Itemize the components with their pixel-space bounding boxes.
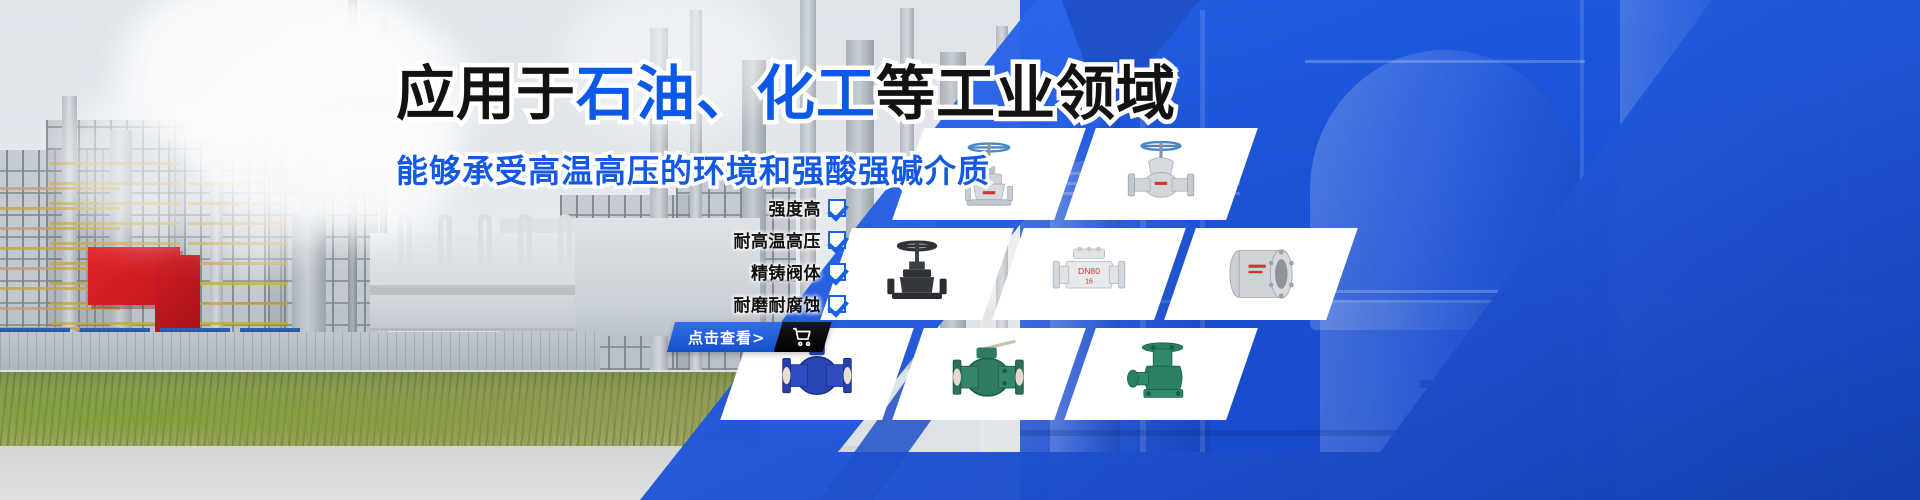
feature-item: 耐磨耐腐蚀 xyxy=(734,291,847,316)
page-title: 应用于石油、化工等工业领域 xyxy=(396,64,1176,123)
feature-item: 强度高 xyxy=(769,195,847,220)
product-cell[interactable] xyxy=(892,328,1086,420)
plant-pipe xyxy=(1840,0,1844,500)
headline-highlight: 石油、化工 xyxy=(576,59,876,128)
checkbox-checked-icon xyxy=(828,199,846,217)
product-cell[interactable]: DN80 16 xyxy=(992,228,1186,320)
product-cell[interactable] xyxy=(1164,228,1358,320)
page-subtitle: 能够承受高温高压的环境和强酸强碱介质 xyxy=(396,146,990,192)
foreground-haze xyxy=(0,446,900,500)
grass-field xyxy=(0,372,760,448)
shopping-cart-icon xyxy=(792,326,814,348)
cta-button[interactable]: 点击查看> xyxy=(667,322,832,352)
plug-valve-icon xyxy=(946,335,1032,413)
plant-railing xyxy=(1305,60,1585,63)
checkbox-checked-icon xyxy=(828,263,846,281)
headline-part-1: 应用于 xyxy=(396,59,576,128)
checkbox-checked-icon xyxy=(828,295,846,313)
feature-label: 耐高温高压 xyxy=(734,227,822,252)
green-globe-valve-icon xyxy=(1118,335,1204,413)
headline-part-3: 等工业领域 xyxy=(876,59,1176,128)
pipe-arc xyxy=(558,214,572,268)
product-cell[interactable] xyxy=(1064,328,1258,420)
svg-text:16: 16 xyxy=(1085,278,1093,285)
wafer-valve-icon xyxy=(1218,235,1304,313)
svg-text:DN80: DN80 xyxy=(1078,266,1100,276)
cta-label[interactable]: 点击查看> xyxy=(667,322,783,352)
plant-tank xyxy=(1610,120,1810,360)
feature-label: 强度高 xyxy=(769,195,822,220)
feature-label: 耐磨耐腐蚀 xyxy=(734,291,822,316)
feature-checklist: 强度高 耐高温高压 精铸阀体 耐磨耐腐蚀 xyxy=(686,195,846,316)
product-cell[interactable] xyxy=(1064,128,1258,220)
feature-label: 精铸阀体 xyxy=(751,259,821,284)
perimeter-wall xyxy=(0,332,600,370)
pipe-arc xyxy=(518,214,532,268)
plant-pipe xyxy=(1580,0,1584,500)
pipe-arc xyxy=(438,214,452,268)
globe-valve-icon xyxy=(1118,135,1204,213)
promo-banner: DN80 16 xyxy=(0,0,1920,500)
steam-plume xyxy=(205,180,315,270)
checkbox-checked-icon xyxy=(828,231,846,249)
feature-item: 精铸阀体 xyxy=(751,259,846,284)
check-valve-icon: DN80 16 xyxy=(1046,235,1132,313)
plant-beam xyxy=(1420,380,1920,388)
gate-valve-icon xyxy=(874,235,960,313)
red-equipment-housing xyxy=(155,255,200,333)
cta-cart-button[interactable] xyxy=(774,322,832,352)
product-cell[interactable] xyxy=(820,228,1014,320)
pipe-arc xyxy=(478,214,492,268)
plant-beam xyxy=(1020,430,1920,436)
feature-item: 耐高温高压 xyxy=(734,227,847,252)
